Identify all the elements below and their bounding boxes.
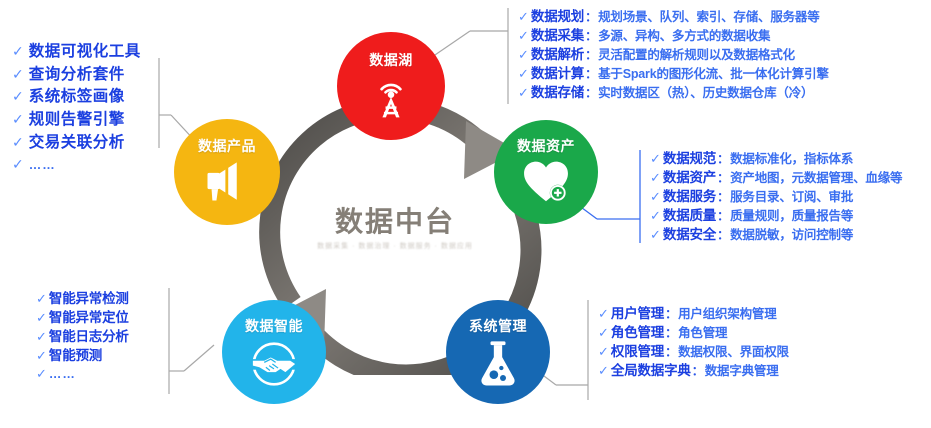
note-item: ✓ 数据采集 ： 多源、异构、多方式的数据收集 (518, 27, 829, 45)
note-head: 数据存储 (531, 84, 584, 102)
check-icon: ✓ (518, 9, 529, 26)
center-title: 数据中台 (335, 208, 455, 236)
check-icon: ✓ (650, 170, 661, 187)
note-separator: ： (585, 10, 597, 26)
note-separator: ： (585, 48, 597, 64)
note-data-asset: ✓ 数据规范 ： 数据标准化，指标体系 ✓ 数据资产 ： 资产地图，元数据管理、… (650, 150, 902, 244)
check-icon: ✓ (650, 208, 661, 225)
note-detail: 资产地图，元数据管理、血缘等 (730, 170, 902, 186)
note-head: 数据可视化工具 (29, 42, 141, 62)
note-head: 智能预测 (49, 347, 102, 365)
note-detail: 灵活配置的解析规则以及数据格式化 (598, 47, 795, 63)
note-head: 用户管理 (611, 305, 664, 323)
note-separator: ： (717, 190, 729, 206)
note-separator: ： (717, 209, 729, 225)
check-icon: ✓ (36, 329, 47, 346)
check-icon: ✓ (518, 28, 529, 45)
check-icon: ✓ (36, 348, 47, 365)
note-item: ✓ 数据规范 ： 数据标准化，指标体系 (650, 150, 902, 168)
note-head: 智能日志分析 (49, 328, 129, 346)
note-detail: 数据脱敏，访问控制等 (730, 227, 853, 243)
node-data-product-label: 数据产品 (198, 136, 256, 156)
note-ellipsis: …… (49, 366, 76, 382)
note-data-intelligence: ✓ 智能异常检测 ✓ 智能异常定位 ✓ 智能日志分析 ✓ 智能预测 ✓ …… (36, 290, 129, 383)
note-detail: 质量规则，质量报告等 (730, 208, 853, 224)
note-head: 角色管理 (611, 324, 664, 342)
note-head: 查询分析套件 (29, 65, 125, 85)
note-separator: ： (717, 152, 729, 168)
note-head: 数据安全 (663, 226, 716, 244)
note-item: ✓ 全局数据字典 ： 数据字典管理 (598, 362, 789, 380)
megaphone-icon (201, 159, 253, 203)
note-head: 系统标签画像 (29, 87, 125, 107)
note-separator: ： (665, 345, 677, 361)
note-separator: ： (717, 171, 729, 187)
check-icon: ✓ (36, 366, 47, 383)
note-item: ✓ 智能日志分析 (36, 328, 129, 346)
note-ellipsis: …… (29, 157, 56, 173)
check-icon: ✓ (36, 291, 47, 308)
check-icon: ✓ (650, 189, 661, 206)
check-icon: ✓ (12, 65, 24, 83)
note-head: 智能异常定位 (49, 309, 129, 327)
note-detail: 数据字典管理 (705, 363, 779, 379)
note-separator: ： (585, 29, 597, 45)
handshake-icon (248, 338, 300, 390)
node-data-intelligence-label: 数据智能 (245, 316, 303, 336)
center-subtitle: 数据采集 · 数据治理 · 数据服务 · 数据应用 (317, 241, 473, 251)
note-detail: 用户组织架构管理 (678, 306, 776, 322)
check-icon: ✓ (598, 325, 609, 342)
node-data-intelligence[interactable]: 数据智能 (222, 300, 326, 404)
node-system-management-label: 系统管理 (469, 316, 527, 336)
note-separator: ： (717, 228, 729, 244)
note-head: 数据解析 (531, 46, 584, 64)
note-head: 权限管理 (611, 343, 664, 361)
check-icon: ✓ (518, 66, 529, 83)
note-head: 数据规范 (663, 150, 716, 168)
note-item: ✓ 数据可视化工具 (12, 42, 141, 62)
note-head: 智能异常检测 (49, 290, 129, 308)
node-data-lake[interactable]: 数据湖 (337, 32, 445, 140)
note-separator: ： (665, 326, 677, 342)
note-head: 规则告警引擎 (29, 110, 125, 130)
check-icon: ✓ (598, 344, 609, 361)
check-icon: ✓ (598, 363, 609, 380)
node-data-product[interactable]: 数据产品 (174, 119, 280, 225)
check-icon: ✓ (598, 306, 609, 323)
note-item: ✓ 数据服务 ： 服务目录、订阅、审批 (650, 188, 902, 206)
note-separator: ： (692, 364, 704, 380)
note-item: ✓ 数据存储 ： 实时数据区（热）、历史数据仓库（冷） (518, 84, 829, 102)
note-detail: 数据标准化，指标体系 (730, 151, 853, 167)
note-item: ✓ 角色管理 ： 角色管理 (598, 324, 789, 342)
check-icon: ✓ (12, 155, 24, 173)
note-head: 全局数据字典 (611, 362, 691, 380)
node-data-asset-label: 数据资产 (517, 136, 575, 156)
node-data-lake-label: 数据湖 (369, 50, 413, 70)
node-data-asset[interactable]: 数据资产 (494, 120, 598, 224)
note-detail: 实时数据区（热）、历史数据仓库（冷） (598, 85, 813, 101)
note-data-lake: ✓ 数据规划 ： 规划场景、队列、索引、存储、服务器等 ✓ 数据采集 ： 多源、… (518, 8, 829, 102)
note-item: ✓ 数据资产 ： 资产地图，元数据管理、血缘等 (650, 169, 902, 187)
check-icon: ✓ (518, 47, 529, 64)
note-item: ✓ 查询分析套件 (12, 65, 141, 85)
note-detail: 基于Spark的图形化流、批一体化计算引擎 (598, 66, 829, 82)
note-head: 数据采集 (531, 27, 584, 45)
note-detail: 规划场景、队列、索引、存储、服务器等 (598, 9, 819, 25)
note-item: ✓ 交易关联分析 (12, 133, 141, 153)
note-detail: 多源、异构、多方式的数据收集 (598, 28, 770, 44)
note-item: ✓ 数据质量 ： 质量规则，质量报告等 (650, 207, 902, 225)
note-item: ✓ 智能异常检测 (36, 290, 129, 308)
note-item: ✓ 系统标签画像 (12, 87, 141, 107)
note-head: 数据资产 (663, 169, 716, 187)
note-detail: 角色管理 (678, 325, 727, 341)
flask-icon (475, 338, 521, 388)
note-head: 交易关联分析 (29, 133, 125, 153)
check-icon: ✓ (650, 227, 661, 244)
note-separator: ： (585, 67, 597, 83)
note-detail: 数据权限、界面权限 (678, 344, 789, 360)
note-data-product: ✓ 数据可视化工具 ✓ 查询分析套件 ✓ 系统标签画像 ✓ 规则告警引擎 ✓ 交… (12, 42, 141, 176)
note-item: ✓ 数据规划 ： 规划场景、队列、索引、存储、服务器等 (518, 8, 829, 26)
note-item: ✓ 智能预测 (36, 347, 129, 365)
note-item: ✓ 数据安全 ： 数据脱敏，访问控制等 (650, 226, 902, 244)
note-detail: 服务目录、订阅、审批 (730, 189, 853, 205)
note-item: ✓ 数据解析 ： 灵活配置的解析规则以及数据格式化 (518, 46, 829, 64)
note-head: 数据规划 (531, 8, 584, 26)
note-separator: ： (665, 307, 677, 323)
check-icon: ✓ (518, 85, 529, 102)
note-head: 数据计算 (531, 65, 584, 83)
note-item: ✓ 数据计算 ： 基于Spark的图形化流、批一体化计算引擎 (518, 65, 829, 83)
note-item: ✓ …… (36, 366, 129, 383)
note-item: ✓ 权限管理 ： 数据权限、界面权限 (598, 343, 789, 361)
diagram-canvas: 数据中台 数据采集 · 数据治理 · 数据服务 · 数据应用 数据湖 数据资产 (0, 0, 931, 428)
check-icon: ✓ (12, 110, 24, 128)
center-label: 数据中台 数据采集 · 数据治理 · 数据服务 · 数据应用 (300, 208, 490, 251)
check-icon: ✓ (12, 87, 24, 105)
check-icon: ✓ (12, 133, 24, 151)
note-item: ✓ …… (12, 155, 141, 173)
broadcast-tower-icon (366, 72, 416, 122)
note-item: ✓ 用户管理 ： 用户组织架构管理 (598, 305, 789, 323)
note-separator: ： (585, 86, 597, 102)
note-item: ✓ 智能异常定位 (36, 309, 129, 327)
check-icon: ✓ (36, 310, 47, 327)
note-item: ✓ 规则告警引擎 (12, 110, 141, 130)
node-system-management[interactable]: 系统管理 (446, 300, 550, 404)
note-head: 数据质量 (663, 207, 716, 225)
heart-plus-icon (519, 157, 573, 205)
note-head: 数据服务 (663, 188, 716, 206)
check-icon: ✓ (650, 151, 661, 168)
check-icon: ✓ (12, 42, 24, 60)
note-system-management: ✓ 用户管理 ： 用户组织架构管理 ✓ 角色管理 ： 角色管理 ✓ 权限管理 ：… (598, 305, 789, 381)
